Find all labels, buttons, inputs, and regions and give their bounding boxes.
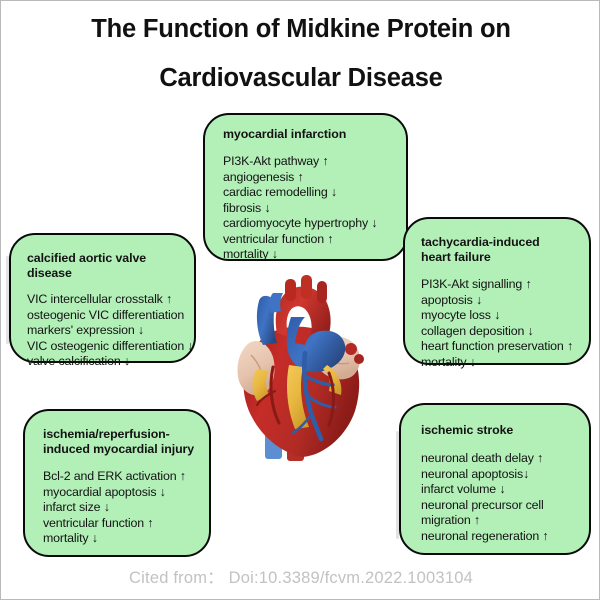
box-tachycardia-induced-heart-failure: tachycardia-induced heart failure PI3K-A… [403, 217, 591, 365]
heart-icon [229, 273, 377, 469]
citation-text: Cited from： Doi:10.3389/fcvm.2022.100310… [1, 564, 600, 588]
list-item: cardiac remodelling ↓ [223, 185, 393, 201]
list-item: heart function preservation ↑ [421, 339, 576, 355]
list-item: angiogenesis ↑ [223, 170, 393, 186]
box-ischemia-reperfusion-induced-myocardial-injury: ischemia/reperfusion- induced myocardial… [23, 409, 211, 557]
list-item: infarct size ↓ [43, 500, 196, 516]
box-myocardial-infarction: myocardial infarction PI3K-Akt pathway ↑… [203, 113, 408, 261]
aortic-branch-1 [285, 279, 296, 301]
aortic-branch-2 [301, 275, 312, 299]
list-item: mortality ↓ [43, 531, 196, 547]
box-title-ischemia-reperfusion-injury: ischemia/reperfusion- induced myocardial… [43, 427, 196, 457]
box-title-line-1: tachycardia-induced [421, 235, 576, 250]
box-title-line-2: induced myocardial injury [43, 442, 196, 457]
list-item: collagen deposition ↓ [421, 324, 576, 340]
vessel-nodule-2 [354, 354, 364, 364]
box-list-tachycardia-induced-heart-failure: PI3K-Akt signalling ↑ apoptosis ↓ myocyt… [421, 277, 576, 370]
list-item: markers' expression ↓ [27, 323, 181, 339]
list-item: PI3K-Akt signalling ↑ [421, 277, 576, 293]
box-title-ischemic-stroke: ischemic stroke [421, 423, 576, 438]
box-calcified-aortic-valve-disease: calcified aortic valve disease VIC inter… [9, 233, 196, 363]
list-item: apoptosis ↓ [421, 293, 576, 309]
list-item: valve calcification ↓ [27, 354, 181, 370]
box-title-calcified-aortic-valve-disease: calcified aortic valve disease [27, 251, 181, 281]
figure-title-line-1: The Function of Midkine Protein on [91, 15, 511, 43]
box-title-line-2: heart failure [421, 250, 576, 265]
list-item: myocyte loss ↓ [421, 308, 576, 324]
list-item: neuronal regeneration ↑ [421, 529, 576, 545]
list-item: osteogenic VIC differentiation [27, 308, 181, 324]
list-item: VIC osteogenic differentiation ↓ [27, 339, 181, 355]
figure-title-line-2: Cardiovascular Disease [1, 66, 600, 92]
list-item: ventricular function ↑ [43, 516, 196, 532]
figure-title: The Function of Midkine Protein on Cardi… [1, 17, 600, 91]
box-ischemic-stroke: ischemic stroke neuronal death delay ↑ n… [399, 403, 591, 555]
list-item: VIC intercellular crosstalk ↑ [27, 292, 181, 308]
list-item: mortality ↓ [223, 247, 393, 263]
box-title-line-1: ischemia/reperfusion- [43, 427, 196, 442]
aortic-branch-3 [317, 281, 327, 303]
list-item: cardiomyocyte hypertrophy ↓ [223, 216, 393, 232]
list-item: myocardial apoptosis ↓ [43, 485, 196, 501]
list-item: neuronal death delay ↑ [421, 451, 576, 467]
list-item: PI3K-Akt pathway ↑ [223, 154, 393, 170]
list-item: mortality ↓ [421, 355, 576, 371]
box-list-ischemic-stroke: neuronal death delay ↑ neuronal apoptosi… [421, 451, 576, 544]
box-list-myocardial-infarction: PI3K-Akt pathway ↑ angiogenesis ↑ cardia… [223, 154, 393, 263]
list-item: migration ↑ [421, 513, 576, 529]
list-item: Bcl-2 and ERK activation ↑ [43, 469, 196, 485]
midkine-cvd-figure: The Function of Midkine Protein on Cardi… [0, 0, 600, 600]
box-title-myocardial-infarction: myocardial infarction [223, 127, 393, 142]
list-item: neuronal precursor cell [421, 498, 576, 514]
list-item: ventricular function ↑ [223, 232, 393, 248]
list-item: fibrosis ↓ [223, 201, 393, 217]
vessel-nodule-1 [345, 343, 357, 355]
heart-illustration [229, 273, 377, 469]
box-list-calcified-aortic-valve-disease: VIC intercellular crosstalk ↑ osteogenic… [27, 292, 181, 370]
box-list-ischemia-reperfusion-injury: Bcl-2 and ERK activation ↑ myocardial ap… [43, 469, 196, 547]
box-title-tachycardia-induced-heart-failure: tachycardia-induced heart failure [421, 235, 576, 265]
list-item: neuronal apoptosis↓ [421, 467, 576, 483]
list-item: infarct volume ↓ [421, 482, 576, 498]
